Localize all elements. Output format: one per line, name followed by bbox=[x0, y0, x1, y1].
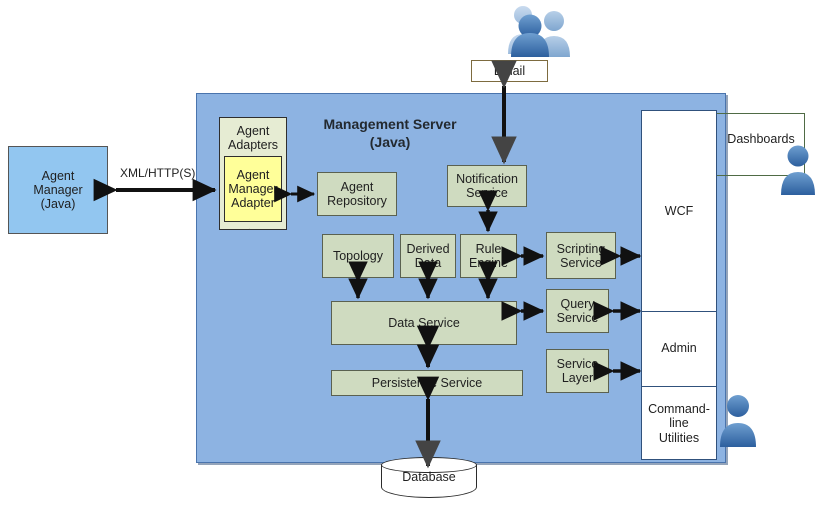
protocol-label: XML/HTTP(S) bbox=[120, 166, 195, 180]
persistence-service-box[interactable]: Persistence Service bbox=[331, 370, 523, 396]
cli-label-line2: line bbox=[648, 416, 710, 430]
query-service-box[interactable]: Query Service bbox=[546, 289, 609, 333]
agent-repository-line1: Agent bbox=[327, 180, 387, 194]
rule-engine-line1: Rule bbox=[469, 242, 508, 256]
service-layer-line1: Service bbox=[557, 357, 599, 371]
people-group-icon bbox=[497, 4, 575, 58]
rule-engine-box[interactable]: Rule Engine bbox=[460, 234, 517, 278]
agent-manager-line1: Agent bbox=[33, 169, 82, 183]
scripting-service-box[interactable]: Scripting Service bbox=[546, 232, 616, 279]
rule-engine-line2: Engine bbox=[469, 256, 508, 270]
scripting-service-line2: Service bbox=[557, 256, 606, 270]
agent-adapters-line1: Agent bbox=[228, 124, 278, 138]
wcf-cell-command-line-utilities[interactable]: Command- line Utilities bbox=[642, 386, 716, 461]
agent-manager-line2: Manager bbox=[33, 183, 82, 197]
cli-label-line3: Utilities bbox=[648, 431, 710, 445]
dashboard-user-icon bbox=[779, 144, 817, 196]
derived-data-box[interactable]: Derived Data bbox=[400, 234, 456, 278]
topology-line1: Topology bbox=[333, 249, 383, 263]
scripting-service-line1: Scripting bbox=[557, 242, 606, 256]
agent-manager-line3: (Java) bbox=[33, 197, 82, 211]
server-title-line2: (Java) bbox=[290, 134, 490, 152]
email-label: Email bbox=[494, 64, 525, 78]
agent-manager-adapter-line1: Agent bbox=[228, 168, 277, 182]
agent-adapters-line2: Adapters bbox=[228, 138, 278, 152]
wcf-cell-admin[interactable]: Admin bbox=[642, 311, 716, 386]
topology-box[interactable]: Topology bbox=[322, 234, 394, 278]
management-server-title: Management Server (Java) bbox=[290, 116, 490, 151]
agent-manager-box[interactable]: Agent Manager (Java) bbox=[8, 146, 108, 234]
admin-label: Admin bbox=[661, 341, 696, 355]
agent-manager-adapter-line3: Adapter bbox=[228, 196, 277, 210]
agent-manager-adapter-box[interactable]: Agent Manager Adapter bbox=[224, 156, 282, 222]
agent-manager-adapter-line2: Manager bbox=[228, 182, 277, 196]
architecture-diagram: Management Server (Java) Agent Manager (… bbox=[0, 0, 821, 514]
cli-label-line1: Command- bbox=[648, 402, 710, 416]
email-box[interactable]: Email bbox=[471, 60, 548, 82]
persistence-service-line1: Persistence Service bbox=[372, 376, 482, 390]
query-service-line1: Query bbox=[557, 297, 599, 311]
derived-data-line2: Data bbox=[406, 256, 449, 270]
wcf-cell-wcf[interactable]: WCF bbox=[642, 111, 716, 311]
notification-service-line2: Service bbox=[456, 186, 518, 200]
data-service-line1: Data Service bbox=[388, 316, 460, 330]
data-service-box[interactable]: Data Service bbox=[331, 301, 517, 345]
derived-data-line1: Derived bbox=[406, 242, 449, 256]
database-label: Database bbox=[381, 470, 477, 484]
agent-adapters-ellipsis: . bbox=[248, 222, 251, 233]
server-title-line1: Management Server bbox=[290, 116, 490, 134]
agent-repository-box[interactable]: Agent Repository bbox=[317, 172, 397, 216]
notification-service-line1: Notification bbox=[456, 172, 518, 186]
query-service-line2: Service bbox=[557, 311, 599, 325]
service-layer-line2: Layer bbox=[557, 371, 599, 385]
wcf-label: WCF bbox=[665, 204, 693, 218]
service-layer-box[interactable]: Service Layer bbox=[546, 349, 609, 393]
database-cylinder[interactable]: Database bbox=[381, 457, 477, 502]
cli-user-icon bbox=[718, 393, 758, 448]
notification-service-box[interactable]: Notification Service bbox=[447, 165, 527, 207]
agent-repository-line2: Repository bbox=[327, 194, 387, 208]
wcf-panel: WCF Admin Command- line Utilities bbox=[641, 110, 717, 460]
